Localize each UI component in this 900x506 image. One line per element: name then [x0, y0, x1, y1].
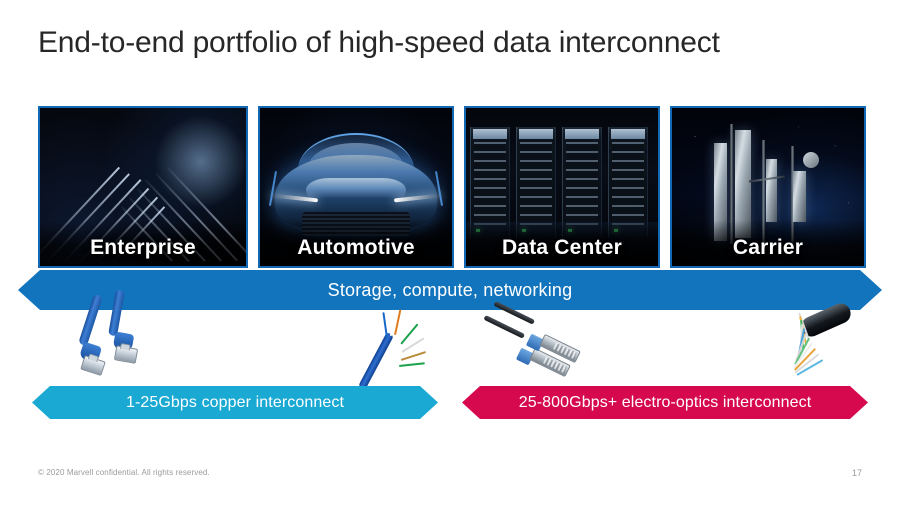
segment-panel-enterprise[interactable]: Enterprise [38, 106, 248, 268]
segment-panel-carrier[interactable]: Carrier [670, 106, 866, 268]
banner-label: Storage, compute, networking [328, 280, 573, 301]
copper-bar-label: 1-25Gbps copper interconnect [126, 394, 344, 412]
qsfp-transceiver-cable-icon [478, 306, 598, 388]
footer-copyright: © 2020 Marvell confidential. All rights … [38, 468, 210, 477]
segment-label-carrier: Carrier [672, 236, 864, 260]
segment-panel-automotive[interactable]: Automotive [258, 106, 454, 268]
fiber-optic-bundle-icon [738, 302, 856, 388]
copper-interconnect-bar[interactable]: 1-25Gbps copper interconnect [32, 386, 438, 419]
optical-interconnect-bar[interactable]: 25-800Gbps+ electro-optics interconnect [462, 386, 868, 419]
cable-artwork-band: Copper Optical [0, 308, 900, 388]
twisted-pair-copper-cable-icon [352, 308, 422, 390]
segment-panel-data-center[interactable]: Data Center [464, 106, 660, 268]
optical-bar-label: 25-800Gbps+ electro-optics interconnect [519, 394, 812, 412]
segment-label-automotive: Automotive [260, 236, 452, 260]
segment-label-enterprise: Enterprise [40, 236, 246, 260]
ethernet-rj45-cable-icon [78, 300, 198, 386]
segment-label-data-center: Data Center [466, 236, 658, 260]
slide-canvas: End-to-end portfolio of high-speed data … [0, 0, 900, 506]
segment-panel-row: Enterprise Automotive [0, 106, 900, 268]
footer-page-number: 17 [852, 468, 862, 478]
page-title: End-to-end portfolio of high-speed data … [38, 26, 868, 60]
